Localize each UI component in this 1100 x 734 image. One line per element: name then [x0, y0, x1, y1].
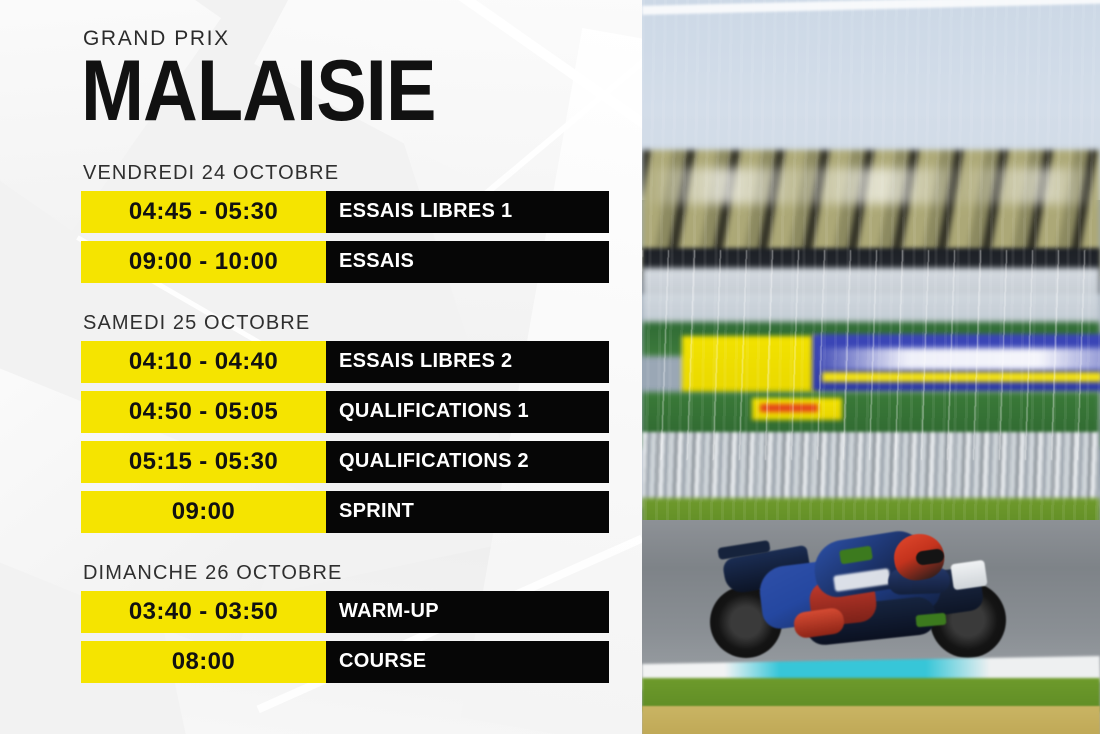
session-time: 04:10 - 04:40	[81, 341, 326, 383]
day-header: SAMEDI 25 OCTOBRE	[83, 313, 642, 333]
session-time: 09:00	[81, 491, 326, 533]
photo-trackside-board-text	[820, 348, 1100, 370]
day-group-friday: VENDREDI 24 OCTOBRE 04:45 - 05:30 ESSAIS…	[81, 163, 642, 283]
motogp-photo	[642, 0, 1100, 734]
session-row: 08:00 COURSE	[81, 641, 609, 683]
session-time: 04:50 - 05:05	[81, 391, 326, 433]
session-name: QUALIFICATIONS 2	[326, 441, 609, 483]
session-row: 09:00 - 10:00 ESSAIS	[81, 241, 609, 283]
page-title: MALAISIE	[81, 51, 575, 133]
session-time: 09:00 - 10:00	[81, 241, 326, 283]
photo-motogp-bike	[702, 528, 1032, 668]
session-time: 08:00	[81, 641, 326, 683]
session-name: ESSAIS	[326, 241, 609, 283]
day-group-sunday: DIMANCHE 26 OCTOBRE 03:40 - 03:50 WARM-U…	[81, 563, 642, 683]
session-time: 04:45 - 05:30	[81, 191, 326, 233]
session-time: 05:15 - 05:30	[81, 441, 326, 483]
photo-gravel-strip	[642, 706, 1100, 734]
session-time: 03:40 - 03:50	[81, 591, 326, 633]
day-group-saturday: SAMEDI 25 OCTOBRE 04:10 - 04:40 ESSAIS L…	[81, 313, 642, 533]
session-row: 03:40 - 03:50 WARM-UP	[81, 591, 609, 633]
photo-paddock-building	[642, 268, 1100, 330]
session-name: COURSE	[326, 641, 609, 683]
session-row: 04:10 - 04:40 ESSAIS LIBRES 2	[81, 341, 609, 383]
left-panel: GRAND PRIX MALAISIE VENDREDI 24 OCTOBRE …	[0, 0, 642, 734]
day-header: VENDREDI 24 OCTOBRE	[83, 163, 642, 183]
photo-trackside-board-yellow	[682, 336, 817, 394]
session-name: WARM-UP	[326, 591, 609, 633]
session-row: 04:45 - 05:30 ESSAIS LIBRES 1	[81, 191, 609, 233]
photo-board-yellow-strip	[822, 372, 1100, 382]
bike-number-panel	[950, 560, 987, 590]
session-name: SPRINT	[326, 491, 609, 533]
photo-canopy-highlight	[642, 168, 1100, 204]
day-header: DIMANCHE 26 OCTOBRE	[83, 563, 642, 583]
photo-armco-barrier	[642, 432, 1100, 508]
gp-schedule-poster: GRAND PRIX MALAISIE VENDREDI 24 OCTOBRE …	[0, 0, 1100, 734]
session-name: ESSAIS LIBRES 2	[326, 341, 609, 383]
photo-small-sign-accent	[760, 404, 818, 412]
session-row: 05:15 - 05:30 QUALIFICATIONS 2	[81, 441, 609, 483]
session-name: QUALIFICATIONS 1	[326, 391, 609, 433]
schedule-list: VENDREDI 24 OCTOBRE 04:45 - 05:30 ESSAIS…	[81, 163, 642, 683]
session-row: 09:00 SPRINT	[81, 491, 609, 533]
poster-content: GRAND PRIX MALAISIE VENDREDI 24 OCTOBRE …	[0, 0, 642, 683]
session-row: 04:50 - 05:05 QUALIFICATIONS 1	[81, 391, 609, 433]
session-name: ESSAIS LIBRES 1	[326, 191, 609, 233]
